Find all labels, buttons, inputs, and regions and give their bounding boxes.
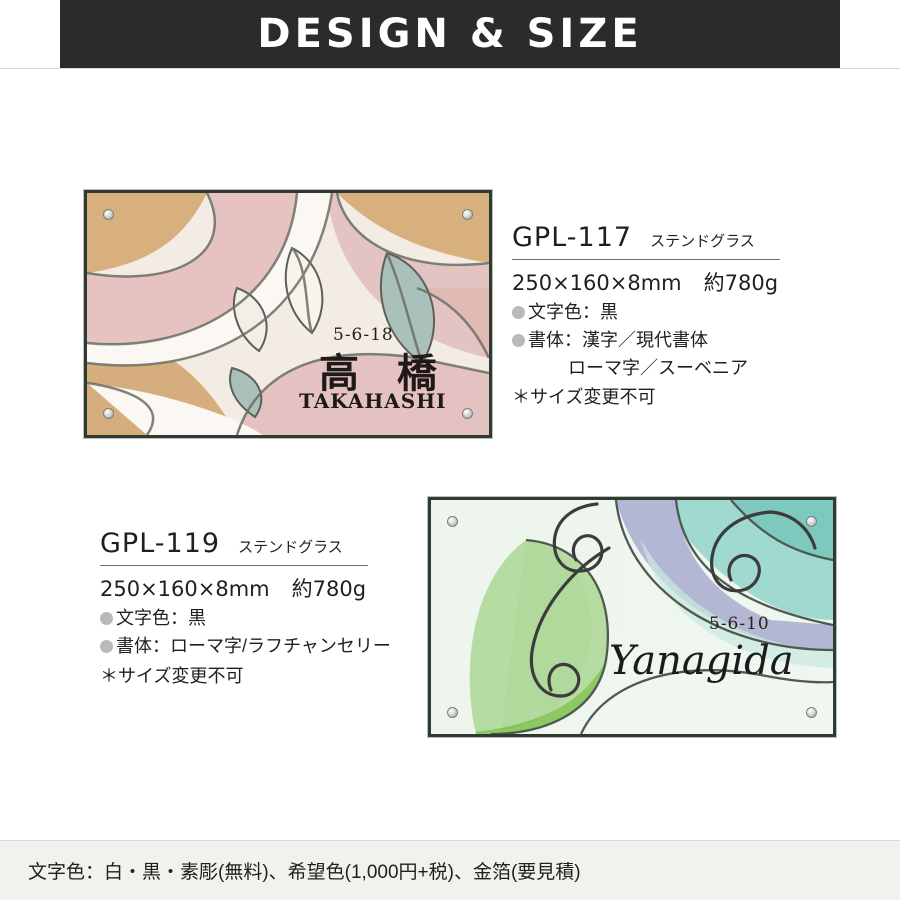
spec2-bullet-1-label: 文字色：黒 (116, 607, 206, 631)
product-image-gpl-117: 5-6-18 高 橋 TAKAHASHI (84, 190, 492, 438)
spec2-dimensions: 250×160×8mm (100, 577, 270, 601)
bullet-dot-icon (512, 306, 525, 319)
screw-icon (462, 209, 473, 220)
screw-icon (806, 707, 817, 718)
plate2-house-number: 5-6-10 (709, 614, 770, 634)
spec1-bullet-1-label: 文字色：黒 (528, 301, 618, 325)
spec2-head: GPL-119 ステンドグラス (100, 528, 400, 559)
screw-icon (103, 408, 114, 419)
spec1-divider (512, 259, 780, 260)
plate2-name-roman: Yanagida (609, 638, 794, 684)
stained-glass-artwork-2 (431, 500, 833, 734)
screw-icon (447, 516, 458, 527)
footer-note: 文字色：白・黒・素彫(無料)、希望色(1,000円+税)、金箔(要見積) (28, 857, 581, 884)
spec1-dimensions: 250×160×8mm (512, 271, 682, 295)
spec2-bullet-2: 書体：ローマ字/ラフチャンセリー (100, 635, 400, 659)
header-divider (0, 68, 900, 69)
bullet-dot-icon (100, 612, 113, 625)
spec1-code: GPL-117 (512, 222, 632, 253)
spec1-head: GPL-117 ステンドグラス (512, 222, 812, 253)
spec1-kind: ステンドグラス (650, 230, 755, 251)
spec2-kind: ステンドグラス (238, 536, 343, 557)
spec2-divider (100, 565, 368, 566)
bullet-dot-icon (512, 334, 525, 347)
product-spec-gpl-119: GPL-119 ステンドグラス 250×160×8mm約780g 文字色：黒 書… (100, 528, 400, 688)
spec1-note: ＊サイズ変更不可 (512, 383, 812, 409)
spec2-dimensions-row: 250×160×8mm約780g (100, 573, 400, 603)
footer: 文字色：白・黒・素彫(無料)、希望色(1,000円+税)、金箔(要見積) (0, 841, 900, 900)
screw-icon (806, 516, 817, 527)
plate1-name-roman: TAKAHASHI (299, 389, 447, 413)
page-header: DESIGN & SIZE (60, 0, 840, 68)
spec1-bullet-1: 文字色：黒 (512, 301, 812, 325)
spec1-dimensions-row: 250×160×8mm約780g (512, 267, 812, 297)
spec2-weight: 約780g (292, 577, 366, 601)
product-image-gpl-119: 5-6-10 Yanagida (428, 497, 836, 737)
spec1-bullet-2: 書体：漢字／現代書体 (512, 329, 812, 353)
bullet-dot-icon (100, 640, 113, 653)
spec1-weight: 約780g (704, 271, 778, 295)
spec2-bullet-2-label: 書体：ローマ字/ラフチャンセリー (116, 635, 391, 659)
page-title: DESIGN & SIZE (257, 11, 642, 57)
screw-icon (447, 707, 458, 718)
spec1-bullet-2-label: 書体：漢字／現代書体 (528, 329, 708, 353)
spec1-bullet-2-sub: ローマ字／スーベニア (568, 354, 812, 380)
product-spec-gpl-117: GPL-117 ステンドグラス 250×160×8mm約780g 文字色：黒 書… (512, 222, 812, 409)
spec2-code: GPL-119 (100, 528, 220, 559)
screw-icon (103, 209, 114, 220)
spec2-bullet-1: 文字色：黒 (100, 607, 400, 631)
spec2-note: ＊サイズ変更不可 (100, 662, 400, 688)
screw-icon (462, 408, 473, 419)
